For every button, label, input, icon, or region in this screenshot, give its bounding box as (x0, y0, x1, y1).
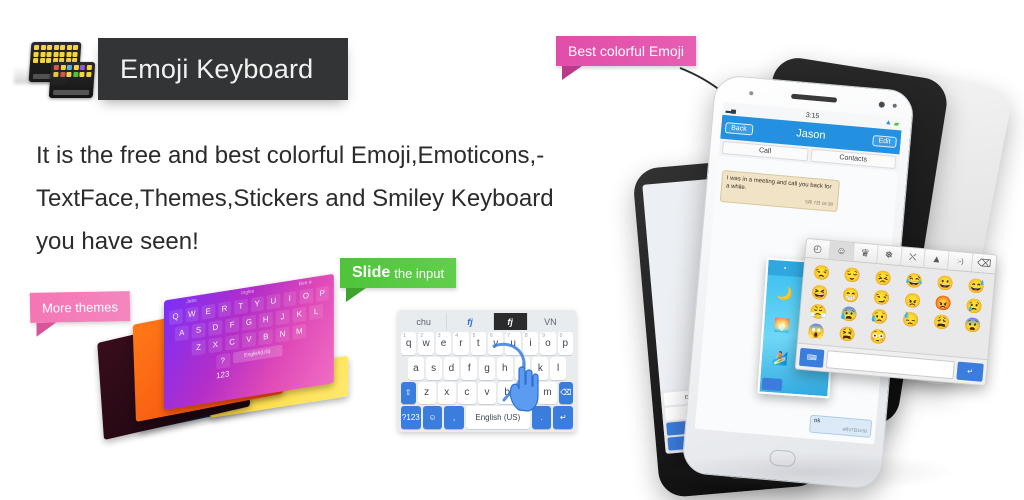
theme-key[interactable]: A (175, 325, 189, 341)
key-w[interactable]: 2w (418, 332, 433, 355)
key-label: y (493, 338, 498, 349)
theme-key[interactable]: P (316, 286, 329, 302)
callout-best-label: Best colorful Emoji (568, 43, 684, 59)
theme-key[interactable]: N (276, 326, 290, 342)
triangle-icon[interactable]: ▲ (924, 249, 949, 269)
backspace-icon[interactable]: ⌫ (972, 254, 996, 274)
key-q[interactable]: 1q (401, 332, 416, 355)
theme-key[interactable]: R (218, 301, 231, 317)
light-sensor (893, 104, 897, 108)
edit-button[interactable]: Edit (872, 134, 897, 147)
earpiece-speaker (791, 94, 837, 103)
shift-key[interactable]: ⇧ (401, 382, 416, 405)
car-icon[interactable]: ⛌ (901, 247, 926, 267)
emoji-item[interactable]: 😢 (965, 298, 984, 313)
emoji-item[interactable]: 😳 (869, 329, 888, 344)
comma-key[interactable]: , (444, 406, 464, 429)
key-g[interactable]: g (479, 357, 495, 380)
description-line-3: you have seen! (36, 220, 636, 263)
theme-key[interactable]: Y (250, 296, 263, 312)
promo-banner: Emoji Keyboard It is the free and best c… (0, 0, 1024, 500)
key-label: u (510, 338, 516, 349)
emoji-item[interactable]: 😓 (902, 312, 921, 327)
emoji-item[interactable]: 😨 (963, 317, 982, 332)
key-sup: 7 (507, 333, 510, 339)
theme-key[interactable]: I (283, 291, 296, 307)
key-l[interactable]: l (550, 357, 566, 380)
key-sup: 8 (525, 333, 528, 339)
theme-key[interactable]: L (309, 304, 323, 320)
hand-cursor-icon (506, 360, 540, 412)
emoji-item[interactable]: 😥 (871, 309, 890, 324)
emoji-item[interactable]: 😒 (812, 265, 831, 280)
key-m[interactable]: m (538, 382, 556, 405)
emoji-grid: 😒 😌 😣 😂 😀 😅 😆 😁 😏 😠 😡 😢 😤 😰 😥 😓 😩 😨 😱 (798, 258, 995, 359)
contact-title: Jason (796, 127, 826, 142)
numeric-key[interactable]: ?123 (401, 406, 421, 429)
phone-group: q w e a s d ⇧ z x ?123 (640, 60, 1024, 500)
theme-key[interactable]: M (292, 324, 306, 340)
keyboard-row-1: 1q 2w 3e 4r 5t 6y 7u 8i 9o 0p (401, 332, 573, 355)
key-sup: 3 (438, 333, 441, 339)
emoji-item[interactable]: 😠 (903, 292, 922, 307)
textface-icon[interactable]: :-) (948, 251, 973, 271)
key-a[interactable]: a (408, 357, 424, 380)
emoji-key[interactable]: ☺ (423, 406, 443, 429)
sticker-backspace-button[interactable] (762, 378, 783, 391)
page-title-text: Emoji Keyboard (120, 54, 313, 85)
emoji-item[interactable]: 😱 (807, 324, 826, 339)
callout-slide-tail (346, 288, 366, 302)
emoji-item[interactable]: 😌 (843, 267, 862, 282)
theme-key[interactable]: G (242, 314, 256, 330)
callout-slide-input: Slide the input (340, 258, 456, 288)
wifi-icon: ▲ (885, 119, 893, 127)
front-camera-icon (749, 91, 753, 95)
key-sup: 6 (490, 333, 493, 339)
emoji-item[interactable]: 😤 (809, 304, 828, 319)
crown-icon[interactable]: ♛ (853, 243, 878, 263)
swipe-keyboard: chu fj fj VN 1q 2w 3e 4r 5t 6y 7u 8i 9o … (398, 310, 576, 432)
key-label: e (441, 338, 447, 349)
keyboard-row-3: ⇧ z x c v b n m ⌫ (401, 382, 573, 405)
proximity-sensor (879, 101, 886, 108)
key-z[interactable]: z (418, 382, 436, 405)
emoji-item[interactable]: 😩 (932, 315, 951, 330)
theme-key[interactable]: Q (169, 309, 182, 325)
clock-icon[interactable]: ◴ (805, 239, 830, 259)
theme-key[interactable]: D (208, 320, 222, 336)
theme-key[interactable]: V (242, 332, 256, 348)
emoji-item[interactable]: 😏 (872, 290, 891, 305)
theme-keyboards-fan: Jebs Q W E A S Z ?123 Jebs (98, 300, 338, 450)
suggestion-item[interactable]: fj (447, 313, 493, 330)
description-line-1: It is the free and best colorful Emoji,E… (36, 134, 636, 177)
clock-icon[interactable]: ◔ (782, 264, 787, 273)
key-c[interactable]: c (458, 382, 476, 405)
key-u[interactable]: 7u (505, 332, 520, 355)
message-bubble-incoming: I was in a meeting and call you back for… (720, 170, 840, 212)
key-y[interactable]: 6y (488, 332, 503, 355)
theme-key[interactable]: F (225, 317, 239, 333)
theme-key[interactable]: E (202, 304, 215, 320)
suggestion-item-selected[interactable]: fj (494, 313, 528, 330)
key-sup: 1 (403, 333, 406, 339)
callout-slide-rest: the input (394, 266, 444, 281)
emoji-item[interactable]: 😂 (905, 273, 924, 288)
key-f[interactable]: f (461, 357, 477, 380)
emoji-item[interactable]: 😣 (874, 270, 893, 285)
key-label: w (422, 338, 429, 349)
key-e[interactable]: 3e (436, 332, 451, 355)
sticker-item[interactable]: 🌙 (776, 286, 793, 303)
theme-key[interactable]: H (259, 312, 273, 328)
theme-key[interactable]: Z (192, 340, 206, 356)
theme-numeric-key[interactable]: ?123 (216, 353, 230, 369)
emoji-item[interactable]: 😫 (838, 326, 857, 341)
key-label: o (545, 338, 551, 349)
theme-key[interactable]: S (192, 322, 206, 338)
key-x[interactable]: x (438, 382, 456, 405)
key-label: q (406, 338, 412, 349)
status-right-icons: ▲ ▰ (885, 118, 900, 127)
key-sup: 2 (420, 333, 423, 339)
key-sup: 4 (455, 333, 458, 339)
emoji-item[interactable]: 😆 (811, 284, 830, 299)
key-sup: 5 (473, 333, 476, 339)
description-block: It is the free and best colorful Emoji,E… (36, 134, 636, 263)
emoji-item[interactable]: 😁 (842, 287, 861, 302)
backspace-key[interactable]: ⌫ (559, 382, 574, 405)
theme-key[interactable]: W (185, 306, 198, 322)
keyboard-row-2: a s d f g h j k l (401, 357, 573, 380)
status-time: 3:15 (805, 112, 819, 120)
signal-icon: ▂▄ (725, 105, 736, 114)
emoji-panel: ◴ ☺ ♛ ❅ ⛌ ▲ :-) ⌫ 😒 😌 😣 😂 😀 😅 😆 😁 😏 😠 (795, 238, 998, 386)
keyboard-row-4: ?123 ☺ , English (US) . ↵ (401, 406, 573, 429)
theme-purple-rows: Q W E R T Y U I O P A S D F G H (164, 274, 334, 410)
smiley-icon[interactable]: ☺ (829, 241, 854, 261)
flower-icon[interactable]: ❅ (877, 245, 902, 265)
key-sup: 0 (560, 333, 563, 339)
theme-key[interactable]: O (299, 288, 312, 304)
key-sup: 9 (542, 333, 545, 339)
emoji-item[interactable]: 😀 (936, 275, 955, 290)
key-r[interactable]: 4r (453, 332, 468, 355)
app-icon-spacebar-front (53, 90, 89, 95)
sticker-item[interactable]: 🌅 (773, 318, 790, 335)
back-button[interactable]: Back (725, 122, 753, 135)
battery-icon: ▰ (893, 119, 899, 127)
suggestion-item[interactable]: VN (528, 313, 573, 330)
emoji-item[interactable]: 😰 (840, 307, 859, 322)
theme-key[interactable]: X (208, 337, 222, 353)
enter-key[interactable]: ↵ (553, 406, 573, 429)
sticker-panel-footer (759, 376, 828, 397)
sticker-item[interactable]: 🏄 (771, 350, 788, 367)
theme-key[interactable]: T (234, 299, 247, 315)
emoji-item[interactable]: 😡 (934, 295, 953, 310)
key-i[interactable]: 8i (523, 332, 538, 355)
emoji-item[interactable]: 😅 (967, 278, 986, 293)
app-icon-reflection (14, 66, 66, 84)
key-t[interactable]: 5t (471, 332, 486, 355)
message-bubble-outgoing: ok 8月17日13:52 (809, 415, 872, 438)
keyboard-switch-button[interactable]: ⌨ (799, 347, 824, 367)
theme-key[interactable]: K (292, 306, 306, 322)
theme-key[interactable]: U (267, 293, 280, 309)
theme-key[interactable]: C (225, 334, 239, 350)
page-title: Emoji Keyboard (98, 38, 348, 100)
callout-slide-emphasis: Slide (352, 264, 390, 282)
callout-slide-body: Slide the input (340, 258, 456, 288)
phone-floor-reflection (660, 452, 960, 492)
callout-best-tail (562, 66, 582, 80)
theme-key[interactable]: J (276, 309, 290, 325)
description-line-2: TextFace,Themes,Stickers and Smiley Keyb… (36, 177, 636, 220)
suggestion-bar: chu fj fj VN (401, 313, 573, 330)
key-s[interactable]: s (426, 357, 442, 380)
key-v[interactable]: v (478, 382, 496, 405)
status-left-icons: ▂▄ (725, 105, 736, 114)
emoji-enter-button[interactable]: ↵ (956, 361, 983, 381)
key-label: p (563, 338, 569, 349)
suggestion-item[interactable]: chu (401, 313, 447, 330)
key-o[interactable]: 9o (540, 332, 555, 355)
theme-key[interactable]: B (259, 329, 273, 345)
key-label: t (477, 338, 480, 349)
callout-more-themes-tail (36, 322, 56, 336)
key-p[interactable]: 0p (558, 332, 573, 355)
key-label: i (529, 338, 531, 349)
theme-keyboard-purple[interactable]: Jebs Ingles Bee a Q W E R T Y U I O P (164, 274, 334, 410)
key-d[interactable]: d (444, 357, 460, 380)
app-icon-emoji-dots (33, 45, 78, 63)
key-label: r (459, 338, 462, 349)
